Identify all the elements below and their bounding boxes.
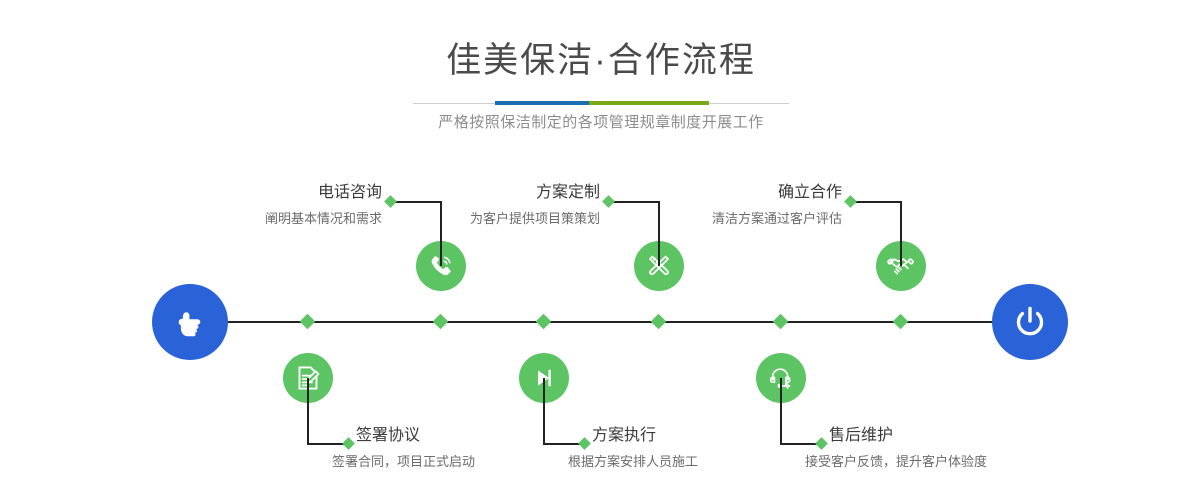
pointing-hand-icon <box>170 302 210 342</box>
step-marker-6 <box>815 437 828 450</box>
step-desc-2: 签署合同，项目正式启动 <box>332 455 475 468</box>
step-title-6: 售后维护 <box>829 428 987 444</box>
step-marker-3 <box>602 195 615 208</box>
step-desc-4: 根据方案安排人员施工 <box>568 455 698 468</box>
step-label-5: 确立合作 清洁方案通过客户评估 <box>640 185 842 225</box>
step-title-5: 确立合作 <box>640 185 842 201</box>
power-icon <box>1008 300 1052 344</box>
step-label-2: 签署协议 签署合同，项目正式启动 <box>356 428 475 468</box>
step-marker-2 <box>342 437 355 450</box>
step-label-4: 方案执行 根据方案安排人员施工 <box>592 428 698 468</box>
step-title-4: 方案执行 <box>592 428 698 444</box>
divider-green-segment <box>589 101 709 105</box>
step-connector-2-vertical <box>307 378 309 444</box>
step-marker-1 <box>384 195 397 208</box>
step-label-6: 售后维护 接受客户反馈，提升客户体验度 <box>829 428 987 468</box>
step-connector-4-vertical <box>543 378 545 444</box>
process-flow-infographic: 佳美保洁·合作流程 严格按照保洁制定的各项管理规章制度开展工作 <box>0 0 1202 502</box>
axis-diamond-2 <box>300 314 316 330</box>
step-desc-1: 阐明基本情况和需求 <box>180 212 382 225</box>
timeline-start-node <box>152 284 228 360</box>
divider-blue-segment <box>495 101 589 105</box>
page-subtitle: 严格按照保洁制定的各项管理规章制度开展工作 <box>0 115 1202 130</box>
step-title-1: 电话咨询 <box>180 185 382 201</box>
title-divider <box>413 101 789 105</box>
axis-diamond-1 <box>433 314 449 330</box>
step-label-1: 电话咨询 阐明基本情况和需求 <box>180 185 382 225</box>
timeline-end-node <box>992 284 1068 360</box>
step-connector-5-vertical-upper <box>900 201 902 221</box>
step-title-3: 方案定制 <box>398 185 600 201</box>
step-desc-6: 接受客户反馈，提升客户体验度 <box>805 455 987 468</box>
page-title: 佳美保洁·合作流程 <box>0 43 1202 78</box>
axis-diamond-3 <box>651 314 667 330</box>
axis-diamond-5 <box>893 314 909 330</box>
step-connector-6-vertical <box>780 378 782 444</box>
step-title-2: 签署协议 <box>356 428 475 444</box>
step-desc-3: 为客户提供项目策策划 <box>398 212 600 225</box>
step-desc-5: 清洁方案通过客户评估 <box>640 212 842 225</box>
axis-diamond-4 <box>536 314 552 330</box>
step-connector-5-vertical <box>900 220 902 266</box>
step-connector-5-horizontal <box>854 201 901 203</box>
axis-diamond-6 <box>773 314 789 330</box>
step-label-3: 方案定制 为客户提供项目策策划 <box>398 185 600 225</box>
step-connector-1-vertical <box>440 220 442 266</box>
step-connector-3-vertical <box>658 220 660 266</box>
step-marker-4 <box>578 437 591 450</box>
header: 佳美保洁·合作流程 严格按照保洁制定的各项管理规章制度开展工作 <box>0 0 1202 130</box>
step-marker-5 <box>844 195 857 208</box>
